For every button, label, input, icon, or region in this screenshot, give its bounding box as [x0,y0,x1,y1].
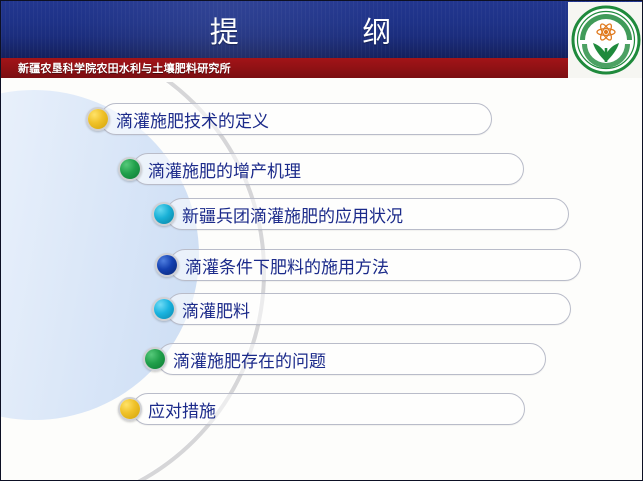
outline-item[interactable]: 滴灌条件下肥料的施用方法 [169,249,581,281]
outline-item[interactable]: 滴灌施肥存在的问题 [157,343,546,375]
bullet-icon-cyan [152,297,176,321]
bullet-icon-gold [86,107,110,131]
outline-item-label: 滴灌肥料 [182,293,250,325]
outline-item-label: 滴灌施肥存在的问题 [173,343,326,375]
organization-banner-label: 新疆农垦科学院农田水利与土壤肥料研究所 [18,58,231,78]
presentation-slide: 提 纲 新疆农垦科学院农田水利与土壤肥料研究所 [0,0,643,481]
outline-item[interactable]: 应对措施 [132,393,525,425]
academy-emblem-logo [568,2,643,78]
outline-item[interactable]: 滴灌肥料 [166,293,571,325]
bullet-icon-green [118,157,142,181]
outline-item-label: 应对措施 [148,393,216,425]
outline-item[interactable]: 滴灌施肥的增产机理 [132,153,524,185]
bullet-icon-teal [152,202,176,226]
bullet-icon-green [143,347,167,371]
outline-item-label: 滴灌条件下肥料的施用方法 [185,249,389,281]
slide-body: 滴灌施肥技术的定义 滴灌施肥的增产机理 新疆兵团滴灌施肥的应用状况 滴灌条件下肥… [1,78,642,480]
arc-top-mask [1,78,642,82]
outline-item[interactable]: 滴灌施肥技术的定义 [100,103,492,135]
outline-item-label: 滴灌施肥技术的定义 [116,103,269,135]
outline-item[interactable]: 新疆兵团滴灌施肥的应用状况 [166,198,569,230]
outline-item-label: 滴灌施肥的增产机理 [148,153,301,185]
bullet-icon-navy [155,253,179,277]
bullet-icon-gold [118,397,142,421]
page-title: 提 纲 [1,1,601,58]
outline-item-label: 新疆兵团滴灌施肥的应用状况 [182,198,403,230]
